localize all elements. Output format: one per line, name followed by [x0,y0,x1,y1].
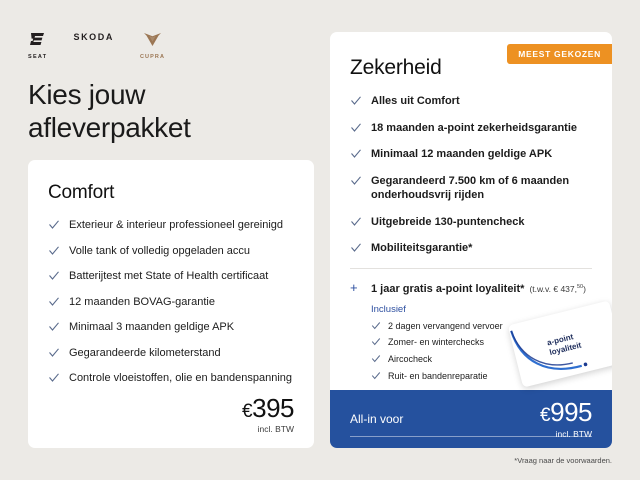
list-item: 12 maanden BOVAG-garantie [48,295,294,310]
comfort-feature-list: Exterieur & interieur professioneel gere… [48,218,294,386]
feature-text: Gegarandeerde kilometerstand [69,346,294,361]
inclusief-title: Inclusief [371,304,592,315]
check-icon [350,95,362,107]
list-item: Ruit- en bandenreparatie [371,371,592,383]
list-item: Batterijtest met State of Health certifi… [48,269,294,284]
plus-icon: + [350,281,362,294]
feature-text: Batterijtest met State of Health certifi… [69,269,294,284]
skoda-wordmark: SKODA [73,32,114,42]
check-icon [350,175,362,187]
check-icon [48,321,60,333]
check-icon [371,321,381,331]
feature-text: 12 maanden BOVAG-garantie [69,295,294,310]
comfort-price: €395 [242,395,294,421]
check-icon [371,337,381,347]
currency-symbol: € [540,405,550,426]
inclusief-text: Ruit- en bandenreparatie [388,371,488,383]
list-item: Uitgebreide 130-puntencheck [350,215,592,230]
comfort-title: Comfort [48,182,294,204]
inclusief-text: 2 dagen vervangend vervoer [388,321,503,333]
inclusief-text: Zomer- en winterchecks [388,337,484,349]
loyalty-value-suffix: ) [583,284,586,294]
feature-text: Uitgebreide 130-puntencheck [371,215,592,230]
check-icon [371,371,381,381]
list-item: Volle tank of volledig opgeladen accu [48,244,294,259]
seat-logo-icon [29,32,46,52]
loyalty-value-note: (t.w.v. € 437,50) [529,284,586,294]
list-item: Minimaal 12 maanden geldige APK [350,147,592,162]
list-item: Alles uit Comfort [350,94,592,109]
list-item: Exterieur & interieur professioneel gere… [48,218,294,233]
footnote: *Vraag naar de voorwaarden. [514,456,612,465]
inclusief-block: Inclusief 2 dagen vervangend vervoer Zom… [371,304,592,383]
list-item: Gegarandeerd 7.500 km of 6 maanden onder… [350,174,592,203]
price-amount: 995 [550,397,592,427]
check-icon [350,122,362,134]
loyalty-label: 1 jaar gratis a-point loyaliteit* [371,283,524,295]
list-item: Gegarandeerde kilometerstand [48,346,294,361]
list-item: Minimaal 3 maanden geldige APK [48,320,294,335]
comfort-price-block: €395 incl. BTW [242,395,294,434]
inclusief-list: 2 dagen vervangend vervoer Zomer- en win… [371,321,592,383]
loyalty-value-prefix: (t.w.v. € 437, [529,284,577,294]
package-card-zekerheid[interactable]: MEEST GEKOZEN Zekerheid Alles uit Comfor… [330,32,612,448]
list-item: Mobiliteitsgarantie* [350,241,592,256]
feature-text: Minimaal 3 maanden geldige APK [69,320,294,335]
page-title: Kies jouw afleverpakket [28,78,308,144]
list-item: Aircocheck [371,354,592,366]
comfort-price-note: incl. BTW [242,424,294,434]
loyalty-plus-row: + 1 jaar gratis a-point loyaliteit*(t.w.… [350,281,592,295]
list-item: 18 maanden a-point zekerheidsgarantie [350,121,592,136]
check-icon [350,216,362,228]
check-icon [371,354,381,364]
check-icon [48,372,60,384]
check-icon [48,245,60,257]
allin-price-block: €995 incl. BTW [540,399,592,439]
section-divider [350,268,592,269]
check-icon [48,219,60,231]
check-icon [48,270,60,282]
allin-label: All-in voor [350,412,403,426]
feature-text: Mobiliteitsgarantie* [371,241,592,256]
zekerheid-body: Zekerheid Alles uit Comfort 18 maanden a… [330,32,612,397]
brand-logo-seat: SEAT [28,32,47,60]
allin-price: €995 [540,397,592,427]
check-icon [350,148,362,160]
feature-text: Alles uit Comfort [371,94,592,109]
page-title-line2: afleverpakket [28,112,191,143]
currency-symbol: € [242,401,252,422]
seat-wordmark: SEAT [28,54,47,60]
brand-logo-cupra: CUPRA [140,32,165,60]
page-title-line1: Kies jouw [28,79,145,110]
cupra-wordmark: CUPRA [140,54,165,60]
list-item: 2 dagen vervangend vervoer [371,321,592,333]
list-item: Zomer- en winterchecks [371,337,592,349]
check-icon [48,347,60,359]
feature-text: Minimaal 12 maanden geldige APK [371,147,592,162]
status-badge: MEEST GEKOZEN [507,44,612,64]
feature-text: Volle tank of volledig opgeladen accu [69,244,294,259]
inclusief-text: Aircocheck [388,354,432,366]
zekerheid-feature-list: Alles uit Comfort 18 maanden a-point zek… [350,94,592,256]
promo-page: SEAT SKODA CUPRA Kies jouw afleverpakket… [0,0,640,480]
price-amount: 395 [252,393,294,423]
package-card-comfort[interactable]: Comfort Exterieur & interieur profession… [28,160,314,448]
brand-logo-skoda: SKODA [73,32,114,42]
cupra-logo-icon [143,32,162,52]
list-item: Controle vloeistoffen, olie en bandenspa… [48,371,294,386]
feature-text: Exterieur & interieur professioneel gere… [69,218,294,233]
check-icon [350,242,362,254]
feature-text: Gegarandeerd 7.500 km of 6 maanden onder… [371,174,592,203]
allin-price-note: incl. BTW [540,429,592,439]
allin-price-bar: All-in voor €995 incl. BTW [330,390,612,448]
check-icon [48,296,60,308]
feature-text: Controle vloeistoffen, olie en bandenspa… [69,371,294,386]
brand-logo-row: SEAT SKODA CUPRA [28,32,165,60]
feature-text: 18 maanden a-point zekerheidsgarantie [371,121,592,136]
